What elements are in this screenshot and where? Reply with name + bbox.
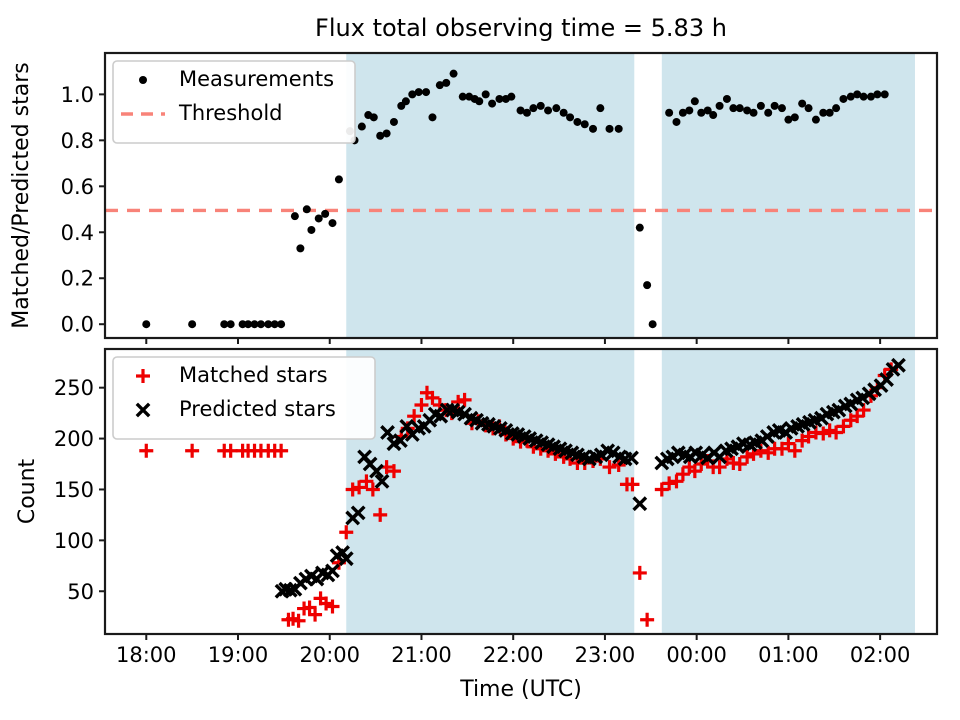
data-point: [589, 125, 597, 133]
data-point: [415, 88, 423, 96]
data-point: [482, 90, 490, 98]
data-point: [596, 104, 604, 112]
x-tick-label: 20:00: [299, 643, 360, 667]
data-point: [750, 109, 758, 117]
y-tick-label: 0.0: [61, 313, 94, 337]
data-point: [812, 116, 820, 124]
data-point: [303, 205, 311, 213]
data-point: [716, 102, 724, 110]
data-point: [826, 109, 834, 117]
data-point: [529, 104, 537, 112]
y-axis-label: Matched/Predicted stars: [9, 62, 34, 328]
data-point: [442, 79, 450, 87]
data-point: [649, 320, 657, 328]
data-point: [615, 125, 623, 133]
data-point: [640, 613, 654, 627]
data-point: [709, 111, 717, 119]
data-point: [881, 90, 889, 98]
legend-label: Predicted stars: [179, 397, 336, 421]
data-point: [860, 93, 868, 101]
data-point: [475, 97, 483, 105]
data-point: [606, 125, 614, 133]
data-point: [873, 90, 881, 98]
figure-canvas: Flux total observing time = 5.83 h0.00.2…: [0, 0, 960, 720]
data-point: [634, 498, 646, 510]
data-point: [636, 224, 644, 232]
y-tick-label: 0.6: [61, 175, 94, 199]
data-point: [764, 109, 772, 117]
y-tick-label: 0.8: [61, 129, 94, 153]
x-tick-label: 00:00: [666, 643, 727, 667]
data-point: [798, 100, 806, 108]
data-point: [633, 566, 647, 580]
figure-title: Flux total observing time = 5.83 h: [315, 14, 727, 42]
y-tick-label: 1.0: [61, 83, 94, 107]
data-point: [736, 104, 744, 112]
data-point: [383, 129, 391, 137]
x-tick-label: 19:00: [208, 643, 269, 667]
data-point: [723, 95, 731, 103]
data-point: [832, 104, 840, 112]
data-point: [573, 118, 581, 126]
legend-marker-dot: [139, 76, 147, 84]
data-point: [335, 175, 343, 183]
data-point: [778, 104, 786, 112]
y-tick-label: 50: [67, 580, 94, 604]
x-tick-label: 02:00: [850, 643, 911, 667]
data-point: [544, 106, 552, 114]
legend-label: Matched stars: [179, 363, 328, 387]
data-point: [805, 104, 813, 112]
data-point: [185, 444, 199, 458]
legend: MeasurementsThreshold: [113, 61, 355, 143]
panel-top: 0.00.20.40.60.81.0Matched/Predicted star…: [9, 53, 937, 344]
data-point: [672, 118, 680, 126]
data-point: [523, 109, 531, 117]
data-point: [321, 210, 329, 218]
matplotlib-figure: Flux total observing time = 5.83 h0.00.2…: [0, 0, 960, 720]
data-point: [142, 320, 150, 328]
data-point: [307, 226, 315, 234]
y-axis-ticks: 0.00.20.40.60.81.0: [61, 83, 105, 337]
y-axis-ticks: 50100150200250: [54, 376, 105, 604]
x-tick-label: 23:00: [575, 643, 636, 667]
data-point: [507, 93, 515, 101]
data-point: [791, 113, 799, 121]
data-point: [450, 70, 458, 78]
data-point: [139, 444, 153, 458]
x-tick-label: 22:00: [483, 643, 544, 667]
data-point: [839, 95, 847, 103]
x-tick-label: 18:00: [116, 643, 177, 667]
y-tick-label: 0.4: [61, 221, 94, 245]
data-point: [402, 97, 410, 105]
y-tick-label: 250: [54, 376, 94, 400]
data-point: [685, 106, 693, 114]
legend: Matched starsPredicted stars: [113, 357, 375, 439]
shaded-span-0: [346, 53, 634, 338]
data-point: [326, 565, 338, 577]
data-point: [537, 102, 545, 110]
data-point: [552, 104, 560, 112]
data-point: [643, 281, 651, 289]
x-tick-label: 01:00: [758, 643, 819, 667]
data-point: [296, 244, 304, 252]
data-point: [665, 109, 673, 117]
data-point: [277, 320, 285, 328]
data-point: [390, 118, 398, 126]
legend-label: Measurements: [179, 67, 334, 91]
y-tick-label: 200: [54, 427, 94, 451]
y-tick-label: 100: [54, 529, 94, 553]
x-tick-label: 21:00: [391, 643, 452, 667]
data-point: [581, 120, 589, 128]
data-point: [422, 88, 430, 96]
data-point: [291, 212, 299, 220]
shaded-span-0: [346, 349, 634, 634]
data-point: [315, 214, 323, 222]
y-axis-label: Count: [15, 458, 40, 524]
legend-label: Threshold: [178, 101, 283, 125]
data-point: [771, 102, 779, 110]
data-point: [370, 113, 378, 121]
data-point: [227, 320, 235, 328]
data-point: [428, 113, 436, 121]
data-point: [257, 320, 265, 328]
panel-bottom: 50100150200250CountMatched starsPredicte…: [15, 349, 937, 640]
data-point: [488, 100, 496, 108]
data-point: [328, 219, 336, 227]
data-point: [691, 97, 699, 105]
data-point: [188, 320, 196, 328]
y-tick-label: 150: [54, 478, 94, 502]
data-point: [560, 109, 568, 117]
data-point: [358, 123, 366, 131]
x-axis-label: Time (UTC): [459, 677, 582, 702]
data-point: [566, 113, 574, 121]
y-tick-label: 0.2: [61, 267, 94, 291]
shaded-regions: [346, 53, 915, 338]
data-point: [757, 102, 765, 110]
x-axis-tick-labels: 18:0019:0020:0021:0022:0023:0000:0001:00…: [116, 643, 910, 667]
